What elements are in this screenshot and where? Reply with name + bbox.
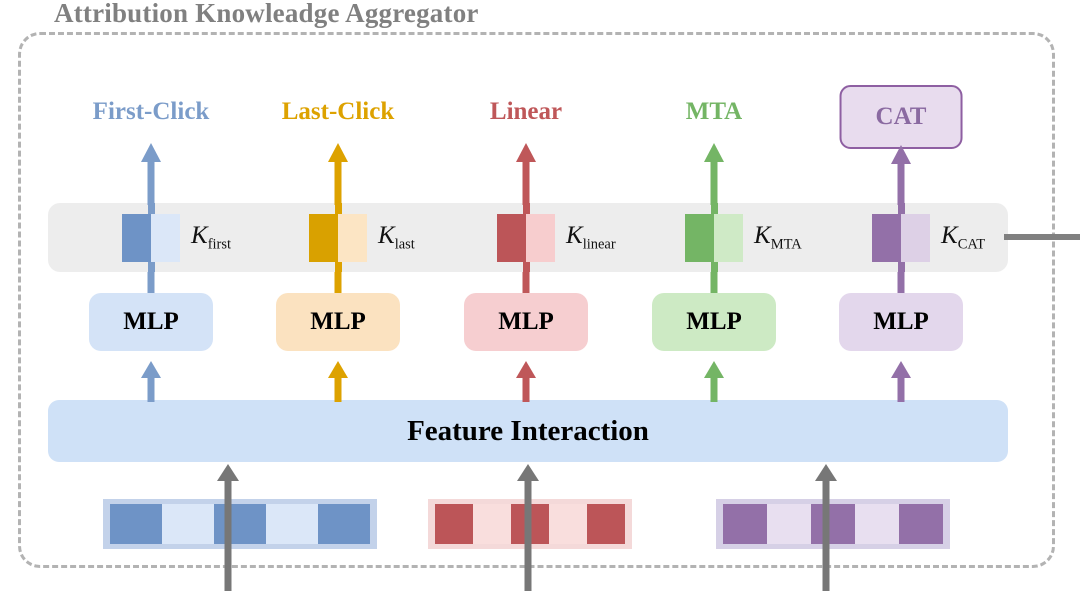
feature-interaction-block: Feature Interaction [48, 400, 1008, 462]
arrow-stem [898, 272, 905, 294]
column-label-linear: Linear [490, 98, 562, 126]
arrow-feature-to-mlp-last-click [327, 361, 349, 402]
knowledge-square-light-first-click [151, 214, 180, 262]
mlp-box-mta: MLP [652, 293, 776, 351]
knowledge-unit-mta: KMTA [685, 214, 802, 262]
embedding-cell [723, 504, 767, 544]
embedding-cell [110, 504, 162, 544]
knowledge-label-cat: KCAT [941, 222, 985, 253]
arrow-band-to-label-linear [515, 143, 537, 205]
embedding-cell [587, 504, 625, 544]
embedding-cell [318, 504, 370, 544]
arrow-stem [335, 272, 342, 294]
knowledge-square-light-linear [526, 214, 555, 262]
input-arrow-middle [516, 464, 540, 591]
arrow-stem [335, 376, 342, 402]
knowledge-unit-cat: KCAT [872, 214, 985, 262]
arrow-stem [523, 160, 530, 205]
column-label-first-click: First-Click [93, 98, 210, 126]
knowledge-output-line [1004, 234, 1080, 240]
input-arrow-right [814, 464, 838, 591]
arrow-band-to-label-mta [703, 143, 725, 205]
arrow-feature-to-mlp-mta [703, 361, 725, 402]
knowledge-square-dark-mta [685, 214, 714, 262]
column-label-last-click: Last-Click [282, 98, 395, 126]
knowledge-square-light-last-click [338, 214, 367, 262]
arrow-stem [898, 376, 905, 402]
arrow-stem [898, 162, 905, 205]
knowledge-label-linear: Klinear [566, 222, 616, 253]
arrow-feature-to-mlp-linear [515, 361, 537, 402]
arrow-stem [711, 160, 718, 205]
arrow-mlp-to-band-cat [894, 272, 908, 294]
embedding-cell [473, 504, 511, 544]
mlp-box-cat: MLP [839, 293, 963, 351]
embedding-cell [162, 504, 214, 544]
knowledge-square-dark-cat [872, 214, 901, 262]
knowledge-label-last-click: Klast [378, 222, 415, 253]
arrow-stem [148, 376, 155, 402]
arrow-stem [148, 160, 155, 205]
mlp-box-linear: MLP [464, 293, 588, 351]
arrow-stem [523, 272, 530, 294]
knowledge-unit-linear: Klinear [497, 214, 616, 262]
knowledge-unit-last-click: Klast [309, 214, 415, 262]
embedding-cell [549, 504, 587, 544]
arrow-feature-to-mlp-cat [890, 361, 912, 402]
feature-interaction-label: Feature Interaction [407, 415, 649, 448]
knowledge-square-dark-first-click [122, 214, 151, 262]
arrow-band-to-label-last-click [327, 143, 349, 205]
input-arrow-left [216, 464, 240, 591]
column-label-cat: CAT [840, 85, 963, 149]
column-label-mta: MTA [686, 98, 742, 126]
arrow-stem [711, 272, 718, 294]
arrow-stem [523, 376, 530, 402]
arrow-stem [711, 376, 718, 402]
embedding-cell [266, 504, 318, 544]
arrow-stem [225, 479, 232, 591]
arrow-stem [823, 479, 830, 591]
embedding-cell [855, 504, 899, 544]
diagram-canvas: { "frame": { "title": "Attribution Knowl… [0, 0, 1080, 591]
arrow-mlp-to-band-linear [519, 272, 533, 294]
arrow-mlp-to-band-mta [707, 272, 721, 294]
arrow-mlp-to-band-last-click [331, 272, 345, 294]
knowledge-label-mta: KMTA [754, 222, 802, 253]
knowledge-square-light-mta [714, 214, 743, 262]
arrow-stem [335, 160, 342, 205]
knowledge-unit-first-click: Kfirst [122, 214, 231, 262]
arrow-band-to-label-cat [890, 145, 912, 205]
arrow-stem [525, 479, 532, 591]
knowledge-square-dark-linear [497, 214, 526, 262]
embedding-cell [767, 504, 811, 544]
knowledge-square-light-cat [901, 214, 930, 262]
arrow-band-to-label-first-click [140, 143, 162, 205]
knowledge-square-dark-last-click [309, 214, 338, 262]
blue-embedding [103, 499, 377, 549]
embedding-cell [899, 504, 943, 544]
arrow-mlp-to-band-first-click [144, 272, 158, 294]
arrow-stem [148, 272, 155, 294]
embedding-cell [435, 504, 473, 544]
arrow-feature-to-mlp-first-click [140, 361, 162, 402]
knowledge-label-first-click: Kfirst [191, 222, 231, 253]
mlp-box-last-click: MLP [276, 293, 400, 351]
page-title: Attribution Knowleadge Aggregator [44, 0, 489, 29]
mlp-box-first-click: MLP [89, 293, 213, 351]
